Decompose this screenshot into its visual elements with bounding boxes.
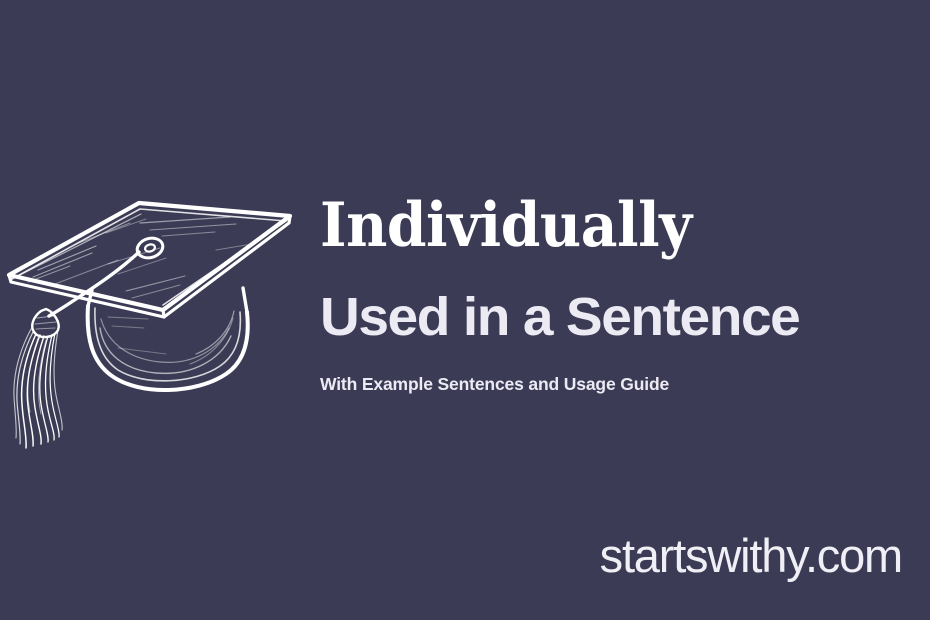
text-block: Individually Used in a Sentence With Exa… <box>320 192 920 396</box>
page-subtitle: Used in a Sentence <box>320 286 930 348</box>
page-title: Individually <box>320 192 878 260</box>
brand-wordmark: startswithy.com <box>600 530 902 582</box>
graduation-cap-icon <box>0 178 300 453</box>
page-tagline: With Example Sentences and Usage Guide <box>320 372 920 396</box>
poster-canvas: Individually Used in a Sentence With Exa… <box>0 0 930 620</box>
